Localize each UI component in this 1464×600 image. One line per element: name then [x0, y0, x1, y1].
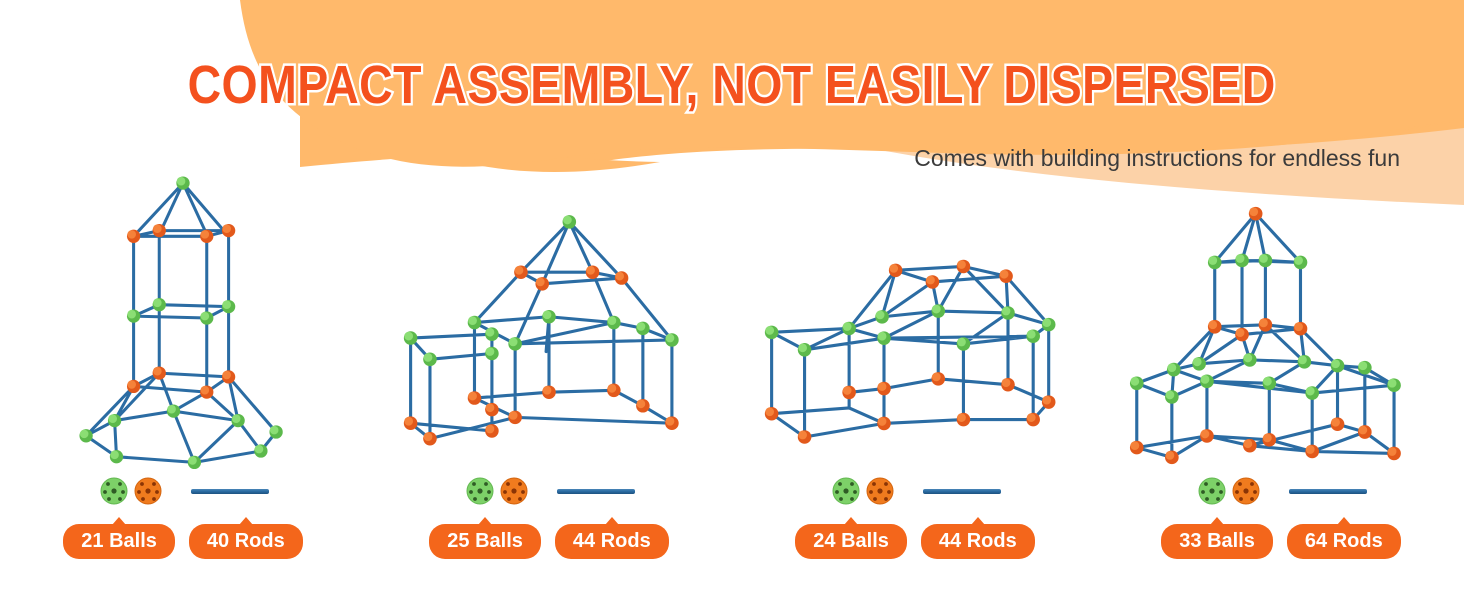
dome-annex-model-svg — [760, 247, 1070, 470]
rods-count-badge: 64 Rods — [1287, 524, 1401, 559]
legend-pills: 21 Balls 40 Rods — [63, 524, 302, 559]
legend-pills: 33 Balls 64 Rods — [1161, 524, 1400, 559]
blue-rod-icon — [191, 489, 269, 494]
model-illustrations-row — [0, 130, 1464, 470]
rods-count-badge: 44 Rods — [555, 524, 669, 559]
tower-nodes — [79, 176, 282, 469]
blue-rod-icon — [923, 489, 1001, 494]
green-ball-icon — [1195, 474, 1229, 508]
orange-ball-icon — [131, 474, 165, 508]
legend-pills: 24 Balls 44 Rods — [795, 524, 1034, 559]
blue-rod-icon — [1289, 489, 1367, 494]
green-ball-icon — [463, 474, 497, 508]
balls-count-badge: 25 Balls — [429, 524, 541, 559]
legend-castle: 33 Balls 64 Rods — [1098, 470, 1464, 580]
legend-icons — [463, 470, 635, 512]
blue-rod-icon — [557, 489, 635, 494]
legend-row: 21 Balls 40 Rods — [0, 470, 1464, 580]
balls-count-badge: 33 Balls — [1161, 524, 1273, 559]
legend-house-pyramid: 25 Balls 44 Rods — [366, 470, 732, 580]
model-illustration-dome-annex — [732, 130, 1098, 470]
tower-model-svg — [69, 166, 297, 470]
product-feature-banner: COMPACT ASSEMBLY, NOT EASILY DISPERSED C… — [0, 0, 1464, 600]
headline-container: COMPACT ASSEMBLY, NOT EASILY DISPERSED — [0, 56, 1464, 114]
legend-icons — [97, 470, 269, 512]
legend-pills: 25 Balls 44 Rods — [429, 524, 668, 559]
balls-count-badge: 21 Balls — [63, 524, 175, 559]
legend-dome-annex: 24 Balls 44 Rods — [732, 470, 1098, 580]
model-illustration-tower — [0, 130, 366, 470]
model-illustration-castle — [1098, 130, 1464, 470]
model-illustration-house-pyramid — [366, 130, 732, 470]
orange-ball-icon — [1229, 474, 1263, 508]
house-pyramid-model-svg — [399, 208, 699, 470]
castle-model-svg — [1125, 202, 1437, 470]
dome-annex-nodes — [765, 260, 1056, 444]
green-ball-icon — [97, 474, 131, 508]
orange-ball-icon — [497, 474, 531, 508]
legend-icons — [1195, 470, 1367, 512]
green-ball-icon — [829, 474, 863, 508]
balls-count-badge: 24 Balls — [795, 524, 907, 559]
legend-icons — [829, 470, 1001, 512]
rods-count-badge: 40 Rods — [189, 524, 303, 559]
legend-tower: 21 Balls 40 Rods — [0, 470, 366, 580]
rods-count-badge: 44 Rods — [921, 524, 1035, 559]
headline-text: COMPACT ASSEMBLY, NOT EASILY DISPERSED — [188, 56, 1276, 114]
orange-ball-icon — [863, 474, 897, 508]
